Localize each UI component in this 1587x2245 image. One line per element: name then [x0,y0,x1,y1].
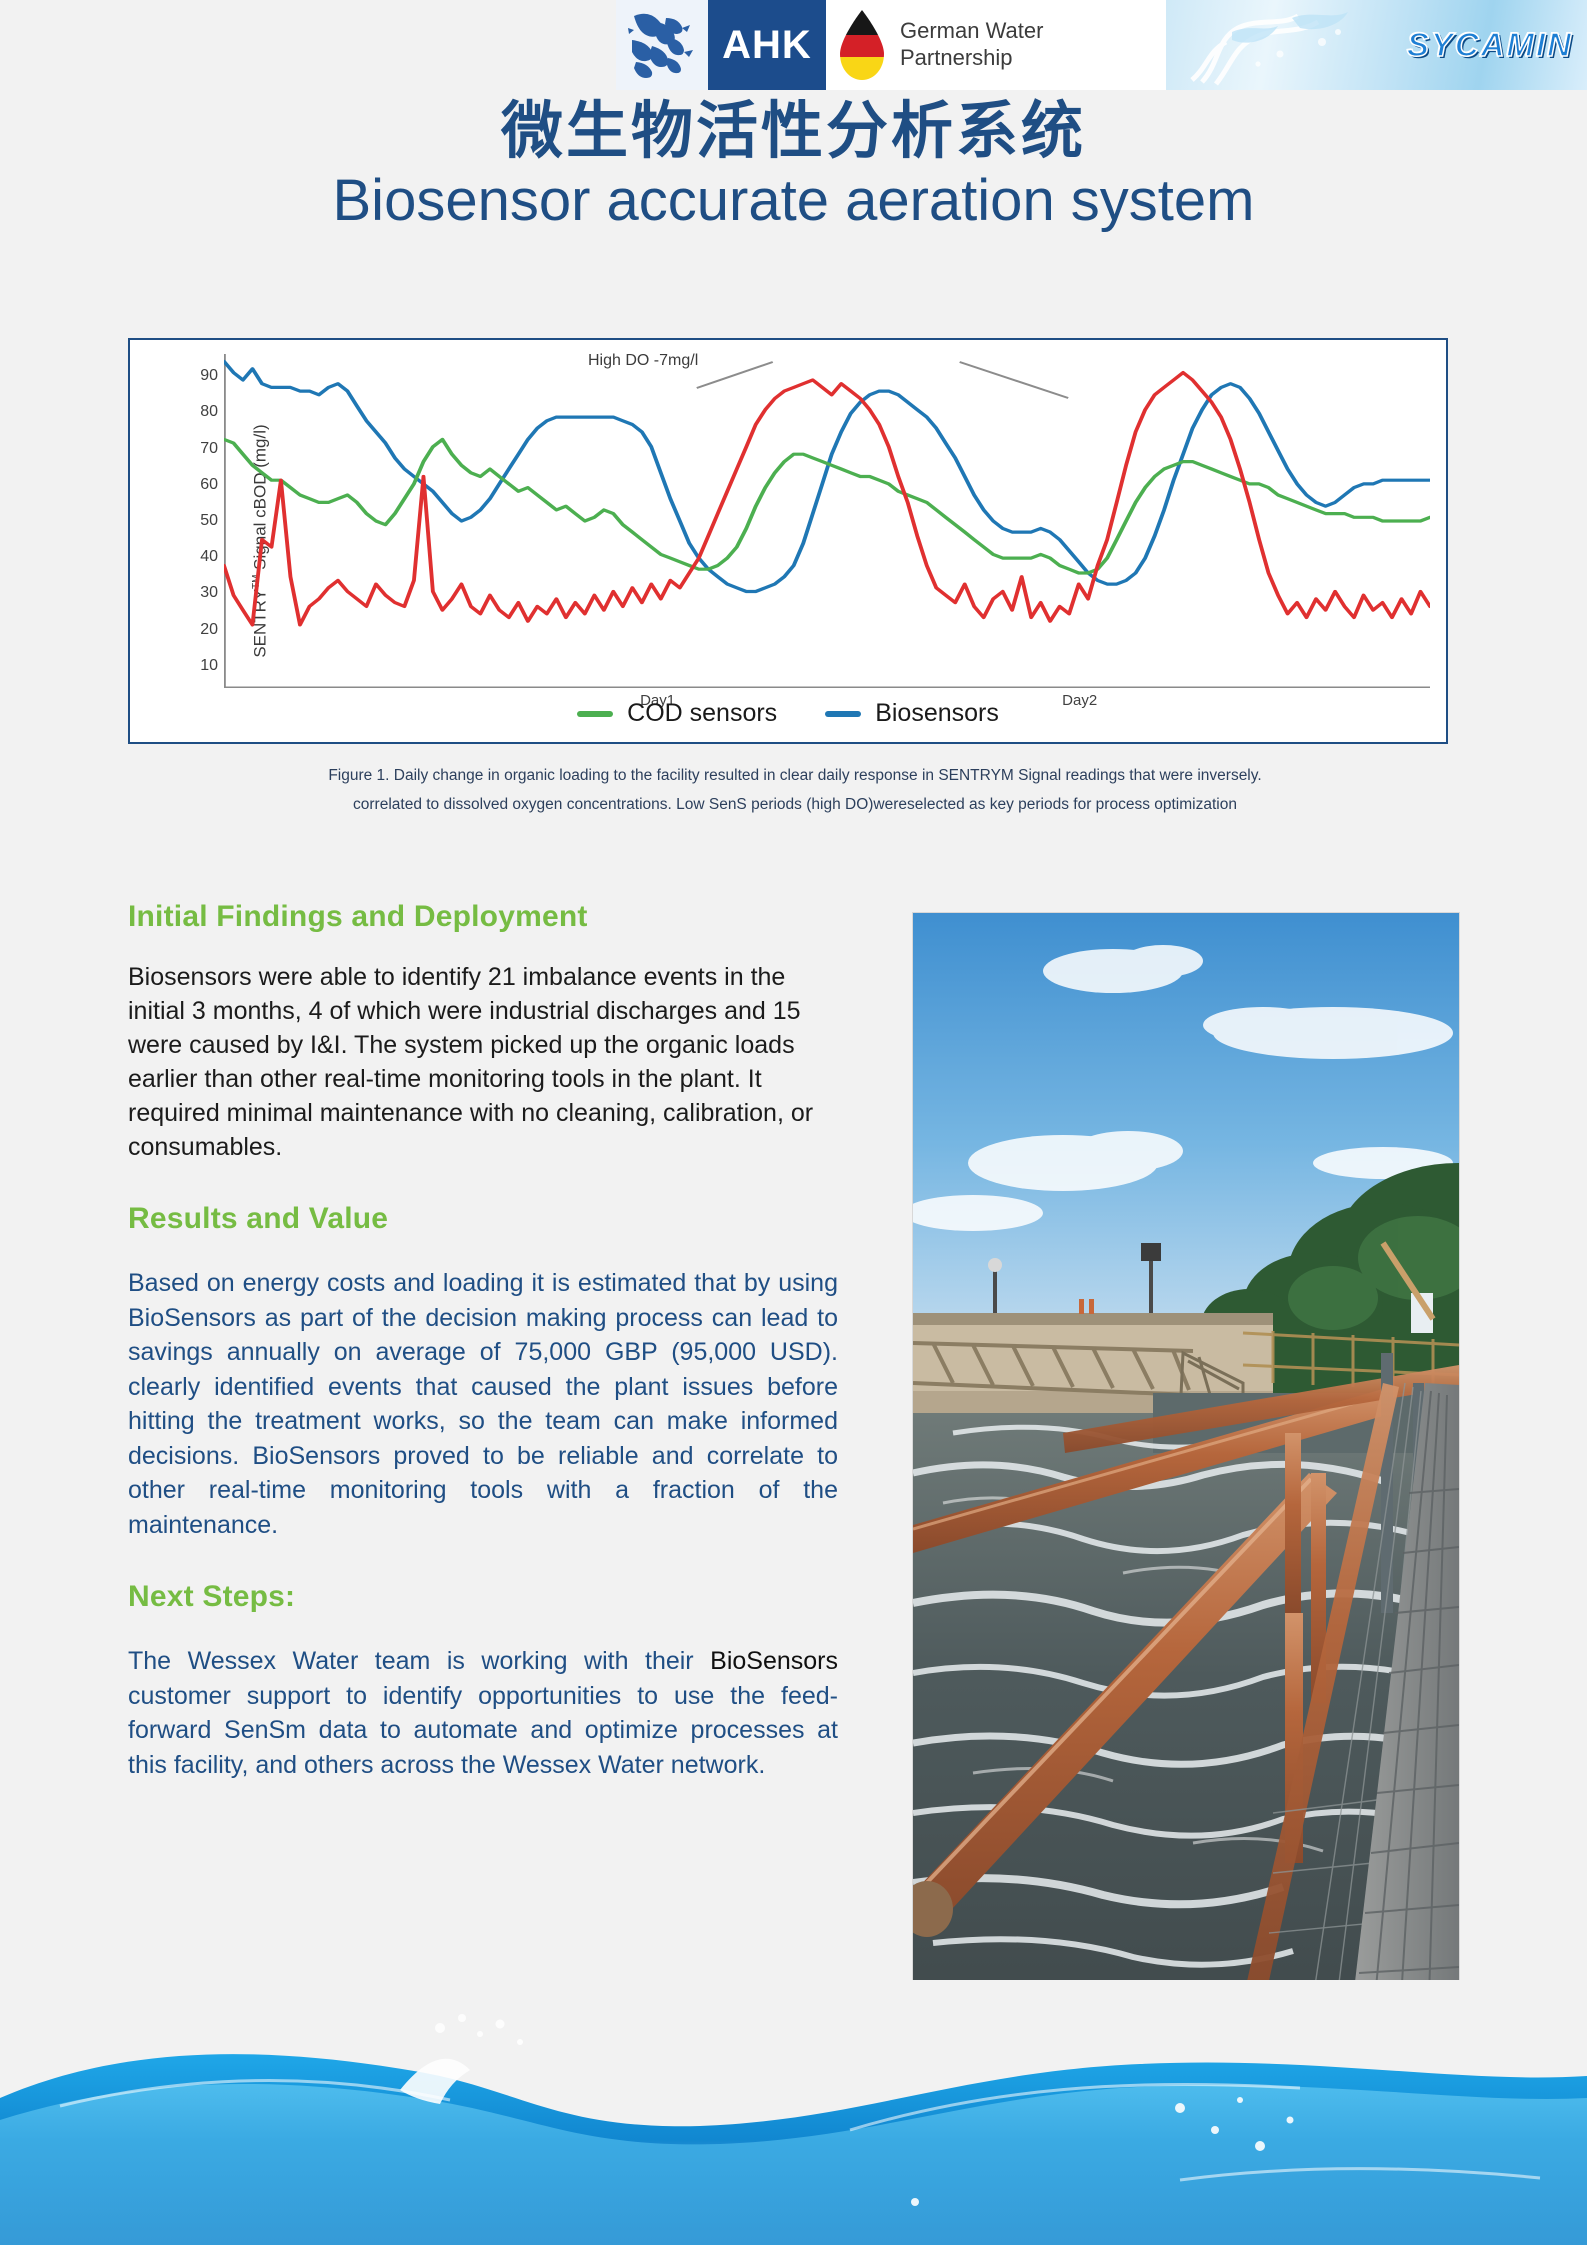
sycamin-logo: SYCAMIN [1166,0,1587,90]
german-flag-droplet-icon [836,8,888,82]
gwp-line-1: German Water [900,18,1043,45]
next-steps-strong: BioSensors [710,1647,838,1675]
logo-bar: AHK German Water Partnership [616,0,1587,90]
german-water-partnership-logo: German Water Partnership [826,0,1166,90]
y-tick-label: 90 [200,367,218,385]
wave-footer-graphic [0,1980,1587,2245]
y-tick-label: 70 [200,440,218,458]
sycamin-wordmark: SYCAMIN [1407,26,1573,64]
figure-caption-line-1: Figure 1. Daily change in organic loadin… [150,762,1440,791]
figure-caption-line-2: correlated to dissolved oxygen concentra… [150,791,1440,820]
next-steps-pre: The Wessex Water team is working with th… [128,1647,710,1675]
dragon-icon [616,0,708,90]
legend-label-biosensors: Biosensors [875,699,999,728]
legend-label-cod: COD sensors [627,699,777,728]
chart-y-ticks: 908070605040302010 [174,350,218,692]
ahk-wordmark: AHK [708,0,826,90]
figure-caption: Figure 1. Daily change in organic loadin… [150,762,1440,819]
paragraph-initial-findings: Biosensors were able to identify 21 imba… [128,960,838,1164]
y-tick-label: 10 [200,657,218,675]
next-steps-post: customer support to identify opportuniti… [128,1682,838,1779]
paragraph-results-and-value: Based on energy costs and loading it is … [128,1266,838,1542]
gwp-wordmark: German Water Partnership [900,18,1043,72]
title-english: Biosensor accurate aeration system [0,167,1587,235]
chart-legend: COD sensors Biosensors [130,699,1446,728]
legend-swatch-green [577,711,613,717]
gwp-line-2: Partnership [900,45,1043,72]
page-title: 微生物活性分析系统 Biosensor accurate aeration sy… [0,96,1587,236]
y-tick-label: 50 [200,512,218,530]
title-chinese: 微生物活性分析系统 [0,96,1587,165]
ahk-label: AHK [722,23,812,68]
y-tick-label: 20 [200,621,218,639]
y-tick-label: 40 [200,548,218,566]
legend-item-cod-sensors: COD sensors [577,699,777,728]
y-tick-label: 30 [200,584,218,602]
ahk-logo: AHK [616,0,826,90]
legend-swatch-blue [825,711,861,717]
figure-1-chart: SENTRYTM Signal cBOD (mg/l) 908070605040… [128,338,1448,744]
aeration-basin-photo [912,912,1460,2000]
y-tick-label: 80 [200,403,218,421]
y-tick-label: 60 [200,476,218,494]
chart-plot-area [224,354,1430,688]
heading-next-steps: Next Steps: [128,1580,838,1614]
legend-item-biosensors: Biosensors [825,699,999,728]
heading-results-and-value: Results and Value [128,1202,838,1236]
paragraph-next-steps: The Wessex Water team is working with th… [128,1644,838,1782]
heading-initial-findings: Initial Findings and Deployment [128,900,838,934]
article-body: Initial Findings and Deployment Biosenso… [128,900,838,1820]
